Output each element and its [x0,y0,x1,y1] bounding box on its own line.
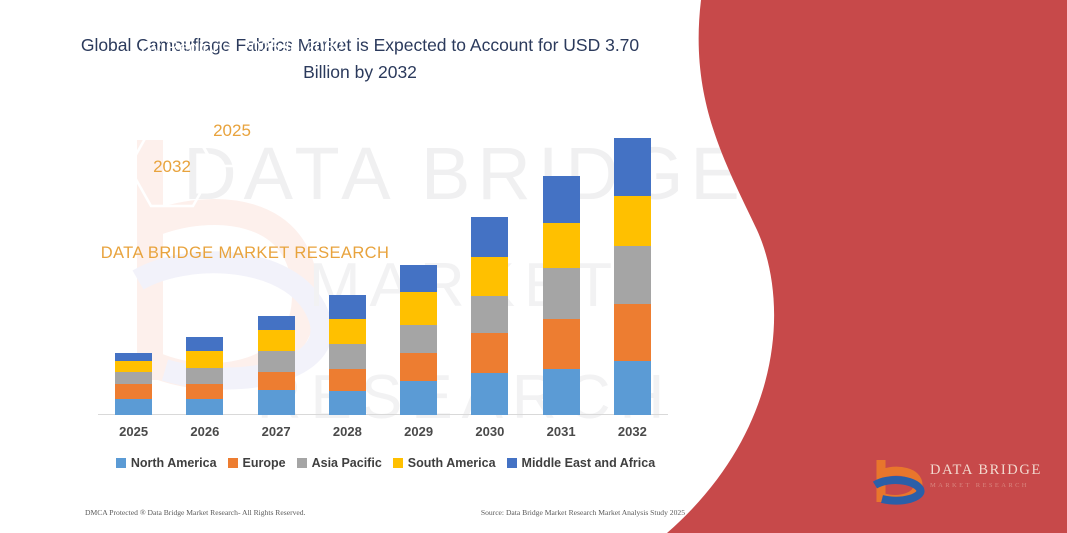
company-logo: DATA BRIDGE MARKET RESEARCH [872,458,1052,510]
hexagon-start-year: 2025 [191,93,273,169]
hexagon-group: 2032 2025 [98,93,398,208]
hexagon-end-year-label: 2032 [153,157,191,177]
brand-name: DATA BRIDGE MARKET RESEARCH [95,240,395,266]
hexagon-start-year-label: 2025 [213,121,251,141]
logo-wordmark: DATA BRIDGE MARKET RESEARCH [930,462,1042,489]
logo-line-2: MARKET RESEARCH [930,482,1042,489]
logo-line-1: DATA BRIDGE [930,462,1042,479]
brand-panel-content: Global Camouflage Fabrics Market, By Reg… [0,0,1067,533]
panel-title: Global Camouflage Fabrics Market, By Reg… [95,8,390,60]
infographic-root: DATA BRIDGE MARKET RESEARCH Global Camou… [0,0,1067,533]
data-bridge-logo-icon [872,458,928,506]
